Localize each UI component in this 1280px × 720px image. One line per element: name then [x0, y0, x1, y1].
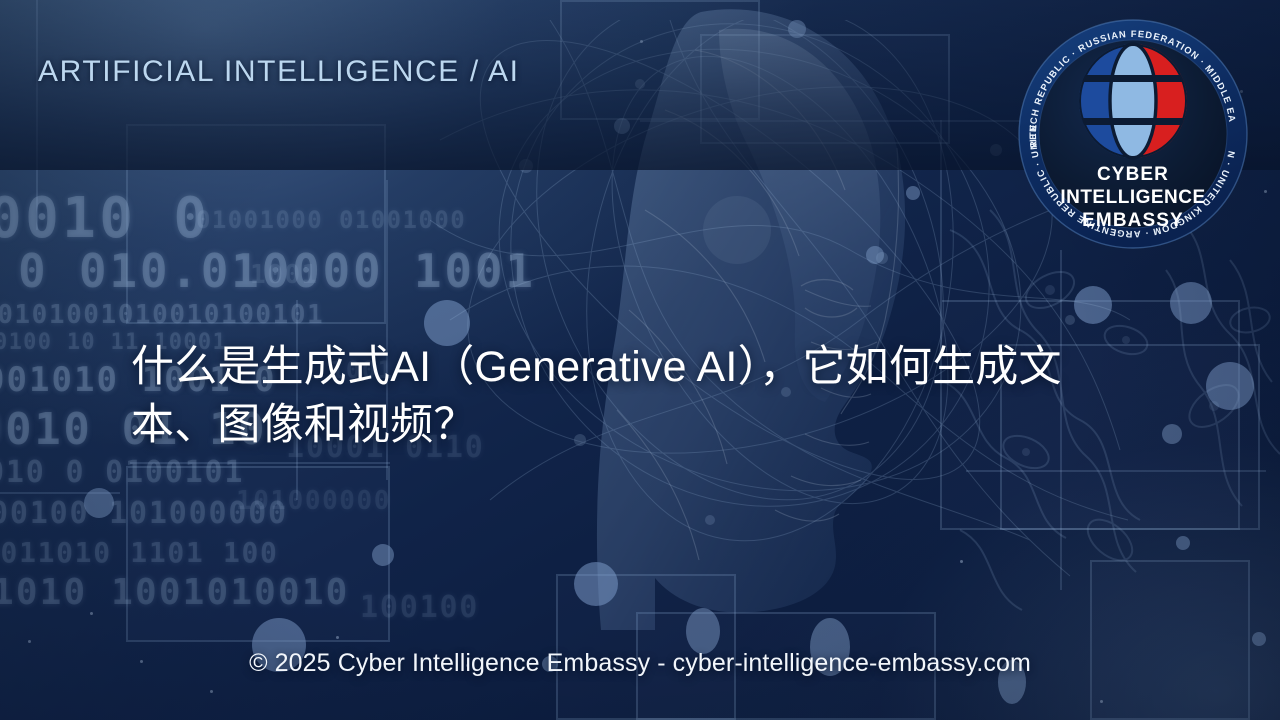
- ghost-face-profile-background: [505, 0, 1065, 630]
- footer-copyright: © 2025 Cyber Intelligence Embassy - cybe…: [0, 649, 1280, 678]
- presentation-slide: 0010 0 0 010.010000 1001 001010010100101…: [0, 0, 1280, 720]
- logo-wordmark-cyber: CYBER: [1097, 164, 1169, 185]
- logo-wordmark-intelligence: INTELLIGENCE: [1060, 187, 1205, 208]
- category-label: ARTIFICIAL INTELLIGENCE / AI: [38, 55, 520, 89]
- logo-wordmark-embassy: EMBASSY: [1082, 210, 1184, 231]
- page-title: 什么是生成式AI（Generative AI），它如何生成文本、图像和视频？: [131, 338, 1091, 454]
- cyber-intelligence-embassy-logo[interactable]: EUROPEAN UNION · FRENCH REPUBLIC · RUSSI…: [1016, 17, 1250, 251]
